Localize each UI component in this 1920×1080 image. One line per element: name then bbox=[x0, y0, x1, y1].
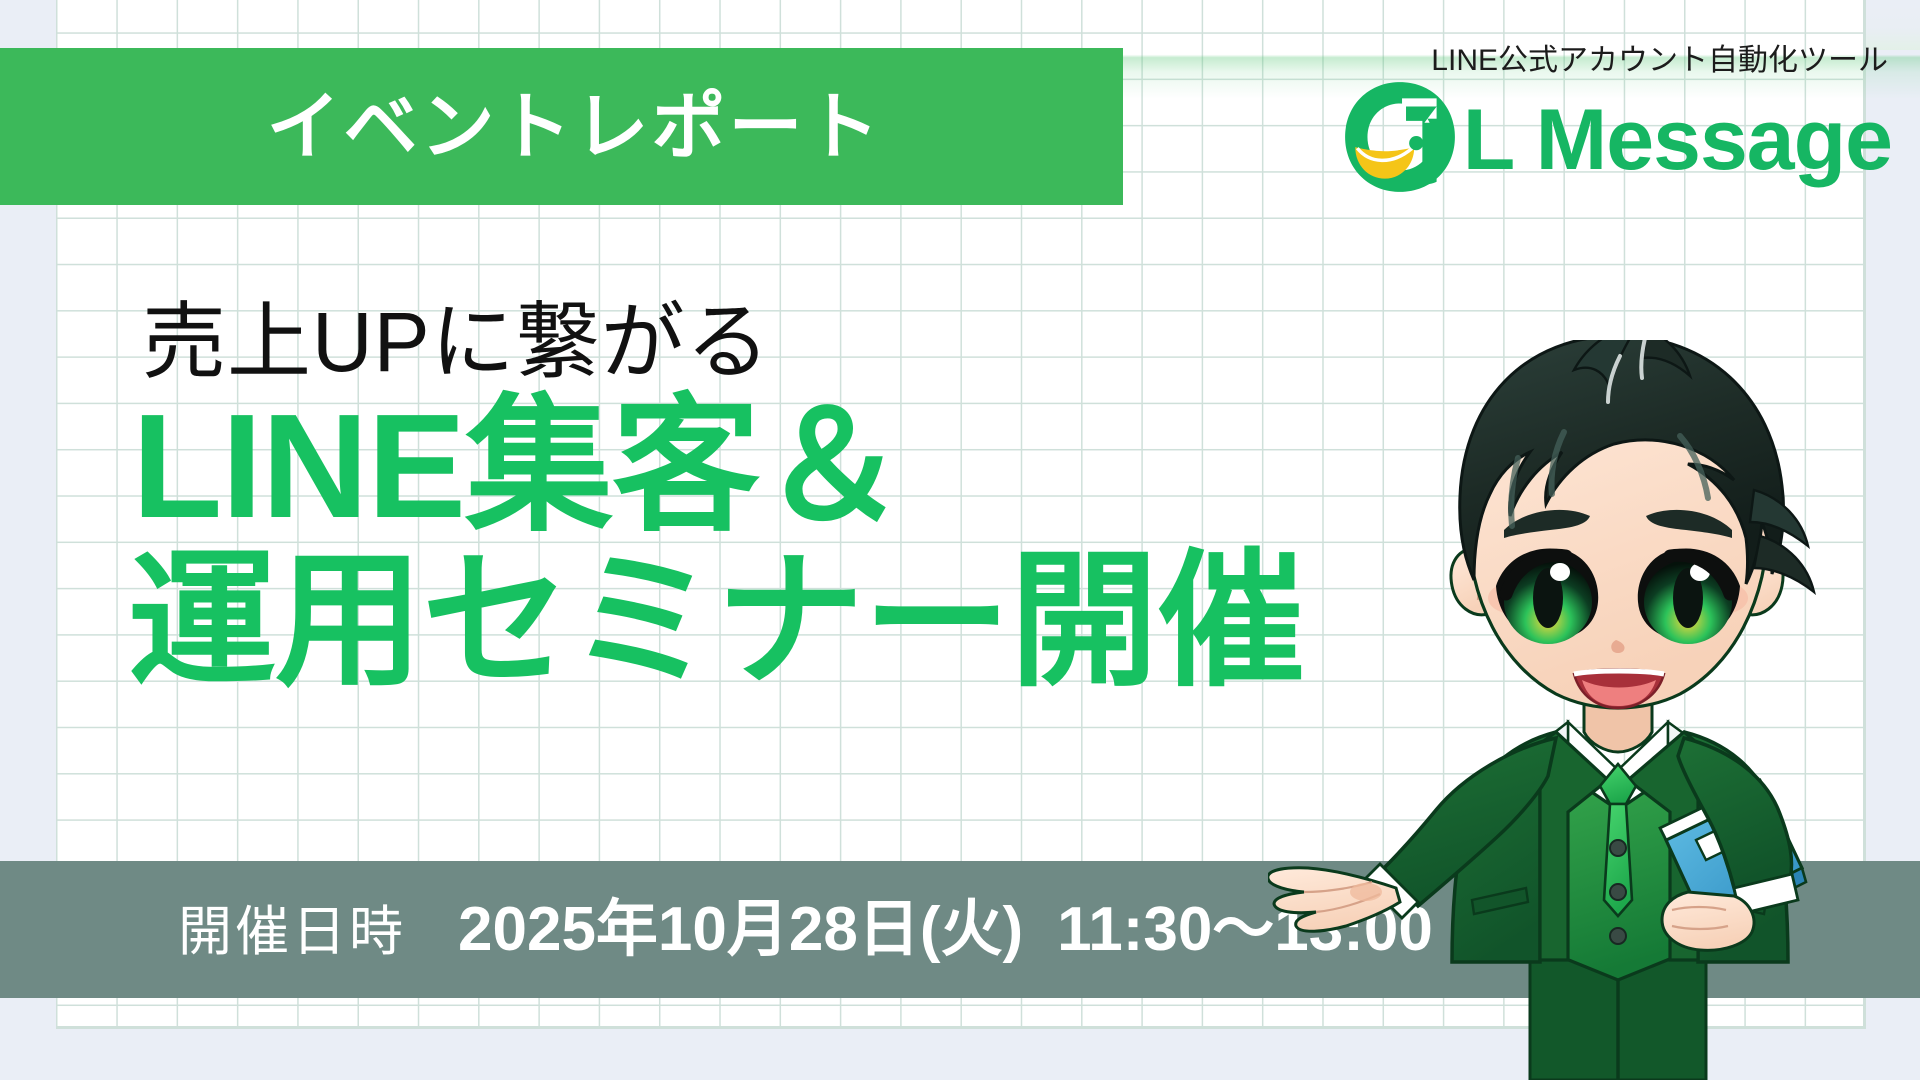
brand-lockup: LINE公式アカウント自動化ツール L Messa bbox=[1339, 46, 1892, 198]
l-message-logo-icon bbox=[1339, 76, 1461, 198]
event-date-value: 2025年10月28日(火) bbox=[458, 899, 1023, 961]
brand-name: L Message bbox=[1463, 97, 1892, 183]
event-datetime-label: 開催日時 bbox=[178, 905, 406, 959]
event-datetime-inner: 開催日時 2025年10月28日(火) 11:30〜13:00 bbox=[0, 899, 1433, 961]
brand-tagline: LINE公式アカウント自動化ツール bbox=[1431, 46, 1888, 76]
headline-block: 売上UPに繋がる LINE集客＆ 運用セミナー開催 bbox=[132, 300, 1304, 698]
event-datetime-bar: 開催日時 2025年10月28日(火) 11:30〜13:00 bbox=[0, 861, 1920, 998]
headline-main-line-2: 運用セミナー開催 bbox=[128, 547, 1304, 698]
event-time-value: 11:30〜13:00 bbox=[1057, 899, 1433, 961]
event-report-badge-label: イベントレポート bbox=[241, 90, 883, 164]
bottom-edge-strip bbox=[0, 1029, 1920, 1080]
event-report-banner: イベントレポート LINE公式アカウント自動化ツール bbox=[0, 0, 1920, 1080]
event-report-badge: イベントレポート bbox=[0, 48, 1123, 205]
headline-subline: 売上UPに繋がる bbox=[142, 300, 1304, 386]
headline-main-line-1: LINE集客＆ bbox=[132, 392, 1304, 543]
brand-name-row: L Message bbox=[1339, 82, 1892, 198]
